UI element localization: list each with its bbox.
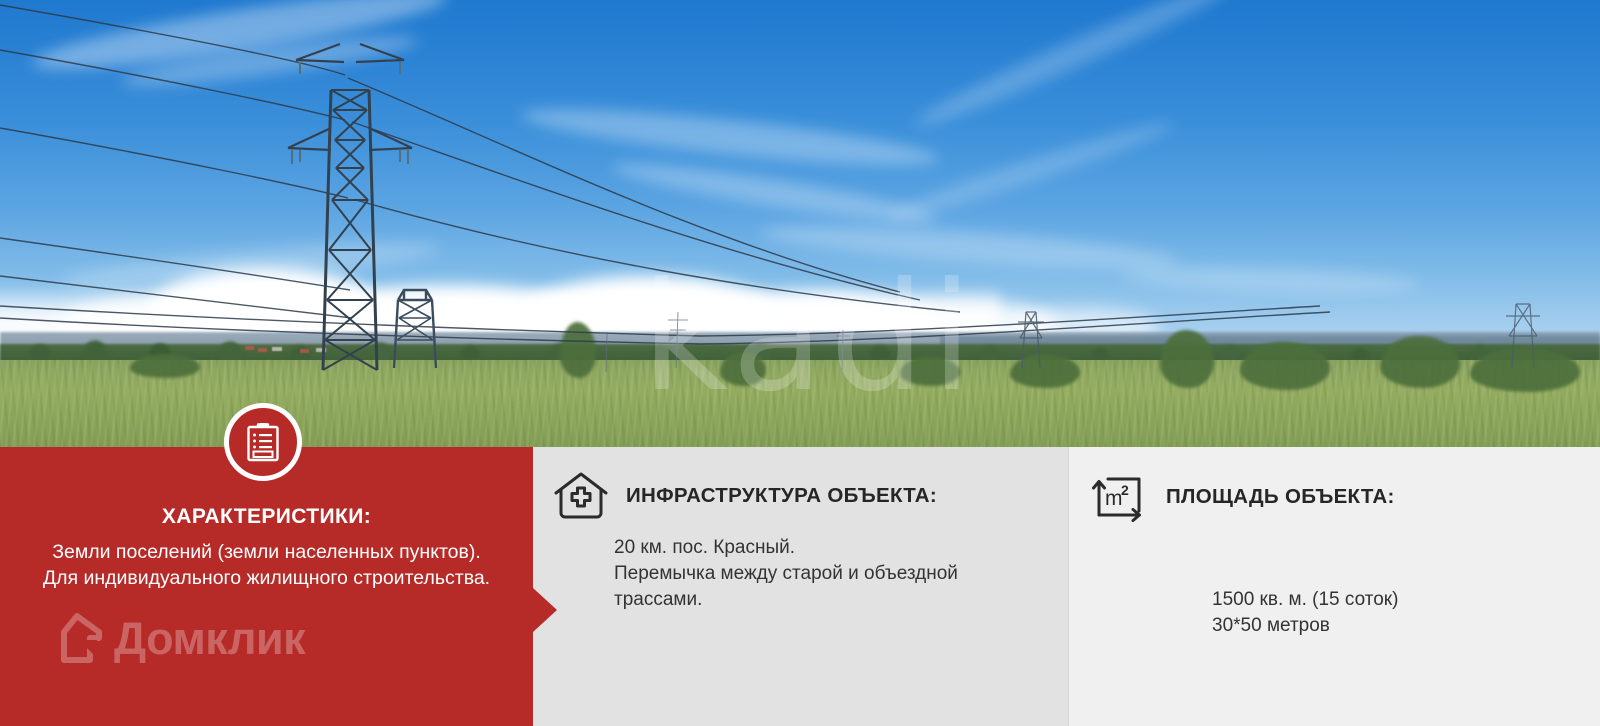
area-header: m 2 ПЛОЩАДЬ ОБЪЕКТА: <box>1090 471 1395 523</box>
panel-arrow-pointer <box>533 588 557 632</box>
distant-pole <box>606 312 850 372</box>
domclick-watermark: Домклик <box>52 613 305 663</box>
svg-text:m: m <box>1105 487 1123 510</box>
distant-tower <box>1018 312 1044 368</box>
area-body: 1500 кв. м. (15 соток) 30*50 метров <box>1212 587 1592 639</box>
infrastructure-header: ИНФРАСТРУКТУРА ОБЪЕКТА: <box>552 471 937 521</box>
listing-info-card: kadi ХАРАКТЕРИСТИКИ: Земли поселений (зе… <box>0 0 1600 726</box>
domclick-house-icon <box>52 613 102 663</box>
square-meters-icon: m 2 <box>1090 471 1150 523</box>
transmission-tower-small <box>394 290 436 368</box>
distant-tower <box>1506 304 1540 368</box>
house-with-cross-icon <box>552 471 610 521</box>
infrastructure-title: ИНФРАСТРУКТУРА ОБЪЕКТА: <box>626 484 937 508</box>
transmission-tower-main <box>288 44 412 370</box>
svg-text:2: 2 <box>1121 482 1129 498</box>
characteristics-body: Земли поселений (земли населенных пункто… <box>0 539 533 591</box>
characteristics-title: ХАРАКТЕРИСТИКИ: <box>0 505 533 529</box>
domclick-wordmark: Домклик <box>114 616 305 661</box>
info-panels: ХАРАКТЕРИСТИКИ: Земли поселений (земли н… <box>0 447 1600 726</box>
power-lines-svg <box>0 0 1600 450</box>
clipboard-icon <box>246 422 280 462</box>
clipboard-badge <box>224 403 302 481</box>
property-photo: kadi <box>0 0 1600 450</box>
area-title: ПЛОЩАДЬ ОБЪЕКТА: <box>1166 485 1395 509</box>
infrastructure-body: 20 км. пос. Красный. Перемычка между ста… <box>614 535 1084 613</box>
panel-characteristics: ХАРАКТЕРИСТИКИ: Земли поселений (земли н… <box>0 447 533 726</box>
